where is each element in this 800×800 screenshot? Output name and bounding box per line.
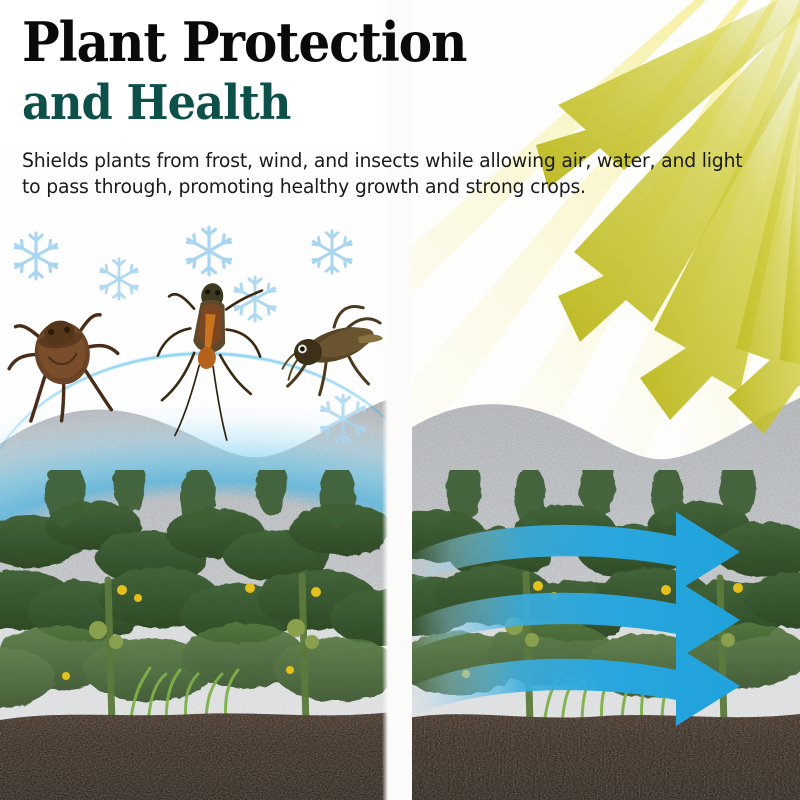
infographic-canvas: Plant Protection and Health Shields plan… (0, 0, 800, 800)
header: Plant Protection and Health Shields plan… (0, 0, 800, 240)
page-subtitle: Shields plants from frost, wind, and ins… (22, 148, 755, 199)
stink-bug-icon (0, 284, 133, 432)
assassin-bug-icon (137, 265, 278, 447)
garden-soil-left (0, 704, 392, 800)
snowflake-icon (316, 392, 370, 446)
cricket-icon (269, 293, 392, 407)
page-title-accent: and Health (22, 77, 290, 129)
garden-soil-right (408, 704, 800, 800)
page-title-primary: Plant Protection (22, 14, 466, 70)
tomato-crop-row-right (408, 470, 800, 730)
tomato-crop-row-left (0, 470, 392, 730)
